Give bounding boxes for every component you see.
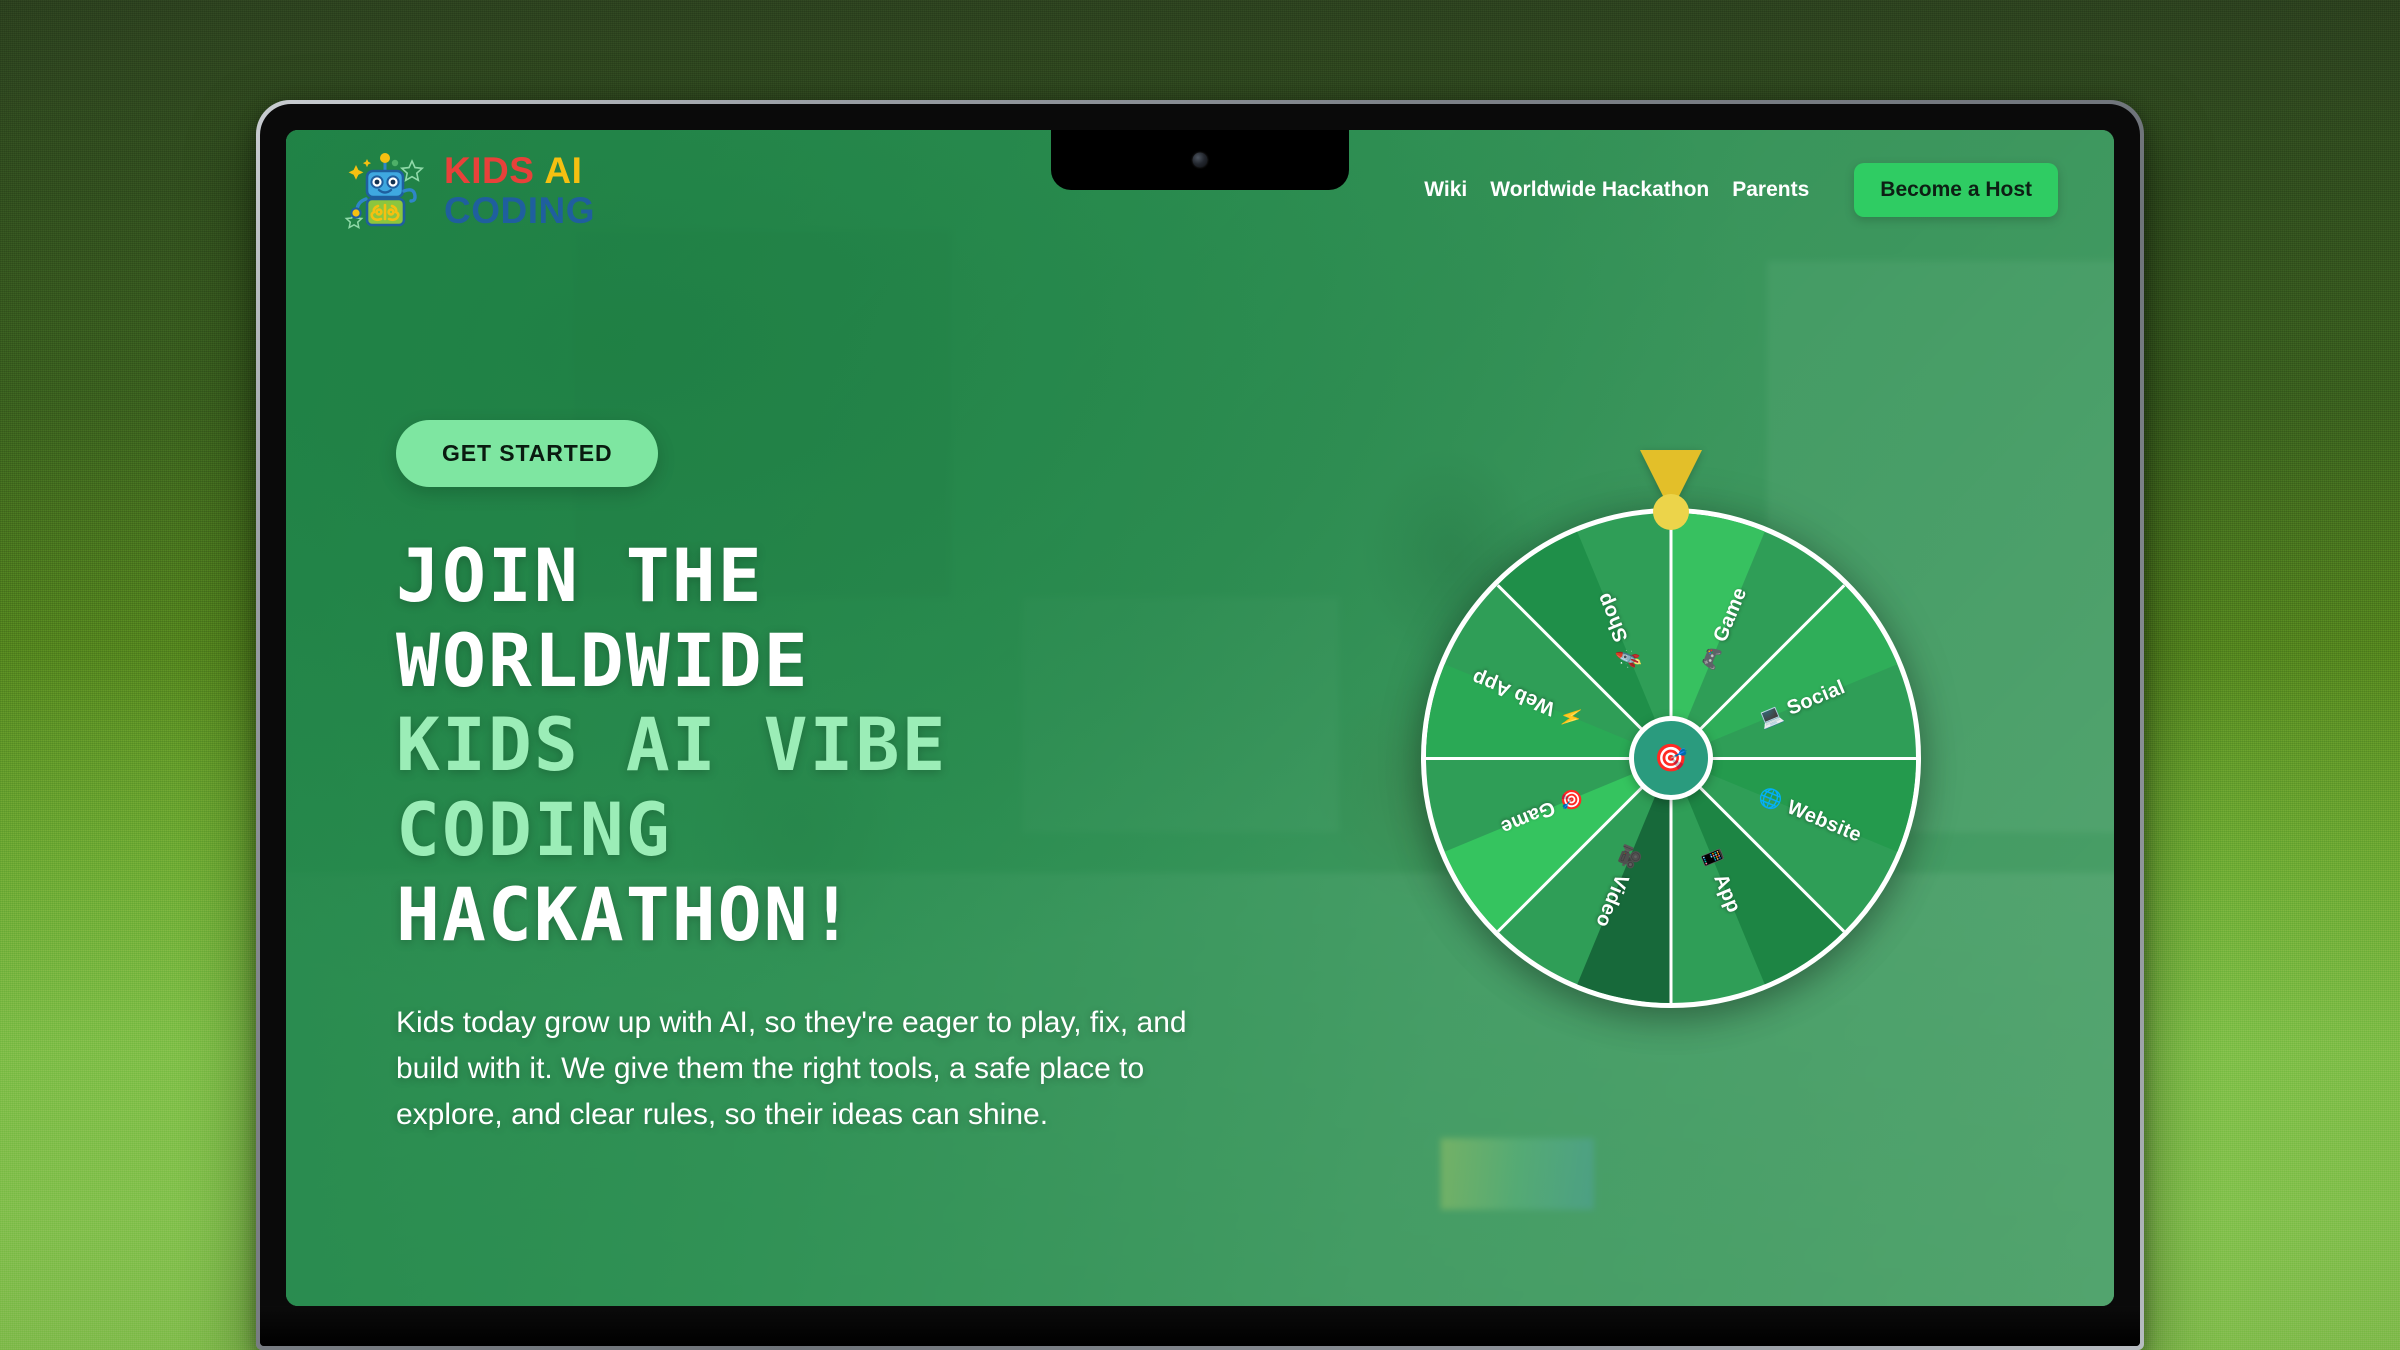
headline-line-4: CODING: [396, 788, 672, 873]
nav-item-wiki[interactable]: Wiki: [1424, 178, 1467, 202]
laptop-device-mockup: KIDSAI CODING Wiki Worldwide Hackathon P…: [256, 100, 2144, 1350]
headline-line-3: KIDS AI VIBE: [396, 703, 947, 788]
logo-text-kids: KIDS: [444, 150, 534, 191]
headline-line-1: JOIN THE: [396, 534, 764, 619]
headline-line-2: WORLDWIDE: [396, 619, 810, 704]
wheel-pointer-knob: [1653, 494, 1689, 530]
laptop-chin: [260, 1306, 2140, 1346]
laptop-screen-bezel: KIDSAI CODING Wiki Worldwide Hackathon P…: [286, 130, 2114, 1306]
logo-text-ai: AI: [544, 150, 582, 191]
project-type-spinner-wheel[interactable]: 🎮Game💻Social🌐Website📱App🎥Video🎯Game⚡Web …: [1411, 450, 1931, 1010]
headline-line-5: HACKATHON!: [396, 873, 856, 958]
hero-paragraph: Kids today grow up with AI, so they're e…: [396, 1000, 1196, 1137]
hero-headline: JOIN THEWORLDWIDEKIDS AI VIBECODINGHACKA…: [396, 535, 1256, 958]
robot-mascot-icon: [342, 147, 428, 233]
wheel-center-hub[interactable]: 🎯: [1629, 716, 1713, 800]
wheel-disc[interactable]: 🎮Game💻Social🌐Website📱App🎥Video🎯Game⚡Web …: [1421, 508, 1921, 1008]
nav-item-worldwide-hackathon[interactable]: Worldwide Hackathon: [1490, 178, 1709, 202]
website-viewport: KIDSAI CODING Wiki Worldwide Hackathon P…: [286, 130, 2114, 1306]
hero-content: GET STARTED JOIN THEWORLDWIDEKIDS AI VIB…: [396, 420, 1256, 1137]
become-a-host-button[interactable]: Become a Host: [1854, 163, 2058, 217]
main-navigation: Wiki Worldwide Hackathon Parents Become …: [1424, 163, 2058, 217]
brand-logo[interactable]: KIDSAI CODING: [342, 147, 595, 233]
laptop-lid-inner: KIDSAI CODING Wiki Worldwide Hackathon P…: [260, 104, 2140, 1346]
wheel-pointer: [1640, 450, 1702, 512]
nav-item-parents[interactable]: Parents: [1732, 178, 1809, 202]
logo-text-coding: CODING: [444, 192, 595, 229]
laptop-notch: [1051, 130, 1349, 190]
brand-wordmark: KIDSAI CODING: [444, 152, 595, 229]
laptop-lid-outer: KIDSAI CODING Wiki Worldwide Hackathon P…: [256, 100, 2144, 1350]
get-started-button[interactable]: GET STARTED: [396, 420, 658, 487]
camera-icon: [1193, 153, 1208, 168]
